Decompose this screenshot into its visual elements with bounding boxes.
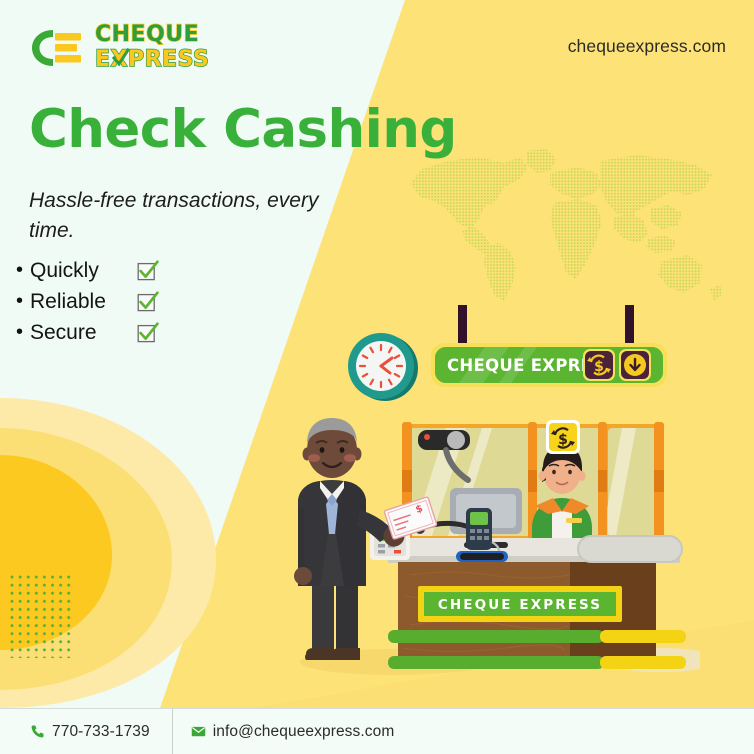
sign-rope-left (458, 305, 467, 347)
teller-currency-badge: $ (546, 420, 580, 454)
dotted-world-map-icon (400, 143, 730, 313)
svg-text:$: $ (594, 359, 604, 375)
counter-sign-text: CHEQUE EXPRESS (438, 597, 602, 613)
footer-phone[interactable]: 770-733-1739 (0, 709, 172, 754)
dot-grid-decoration (8, 573, 74, 658)
counter: CHEQUE EXPRESS (388, 536, 686, 669)
footer-phone-text: 770-733-1739 (52, 723, 150, 741)
poster-canvas: CHEQUE EXPRESS chequeexpress.com Check C… (0, 0, 754, 754)
bullet-marker: • (16, 321, 30, 344)
teller-name-badge (566, 518, 582, 523)
customer-figure (294, 418, 405, 660)
checked-checkbox-icon (137, 291, 159, 313)
brand-logo[interactable]: CHEQUE EXPRESS (27, 24, 209, 71)
footer-email[interactable]: info@chequeexpress.com (173, 709, 413, 754)
clock-icon (344, 328, 422, 406)
list-item-label: Quickly (30, 259, 137, 283)
svg-text:$: $ (558, 432, 568, 448)
check-mark-icon (112, 48, 130, 68)
footer-email-text: info@chequeexpress.com (213, 723, 395, 741)
list-item-label: Reliable (30, 290, 137, 314)
ce-monogram-icon (27, 26, 85, 70)
counter-tray (578, 536, 682, 562)
feature-list: • Quickly • Reliable • Secure (16, 255, 159, 348)
list-item: • Quickly (16, 255, 159, 286)
download-arrow-icon (619, 349, 651, 381)
envelope-icon (191, 724, 206, 739)
checked-checkbox-icon (137, 260, 159, 282)
list-item: • Reliable (16, 286, 159, 317)
sign-rope-right (625, 305, 634, 347)
bullet-marker: • (16, 259, 30, 282)
list-item-label: Secure (30, 321, 137, 345)
logo-line-1: CHEQUE (95, 24, 209, 46)
hanging-sign: CHEQUE EXPRESS $ (425, 305, 675, 393)
page-title: Check Cashing (29, 99, 457, 160)
logo-wordmark: CHEQUE EXPRESS (95, 24, 209, 71)
phone-icon (30, 724, 45, 739)
list-item: • Secure (16, 317, 159, 348)
currency-exchange-icon: $ (583, 349, 615, 381)
logo-line-2: EXPRESS (95, 49, 209, 71)
bullet-marker: • (16, 290, 30, 313)
subheading: Hassle-free transactions, every time. (29, 186, 359, 246)
checked-checkbox-icon (137, 322, 159, 344)
contact-footer: 770-733-1739 info@chequeexpress.com (0, 708, 754, 754)
check-cashing-illustration: $ CHEQUE EXPRESS (270, 410, 700, 690)
website-url[interactable]: chequeexpress.com (568, 36, 726, 57)
